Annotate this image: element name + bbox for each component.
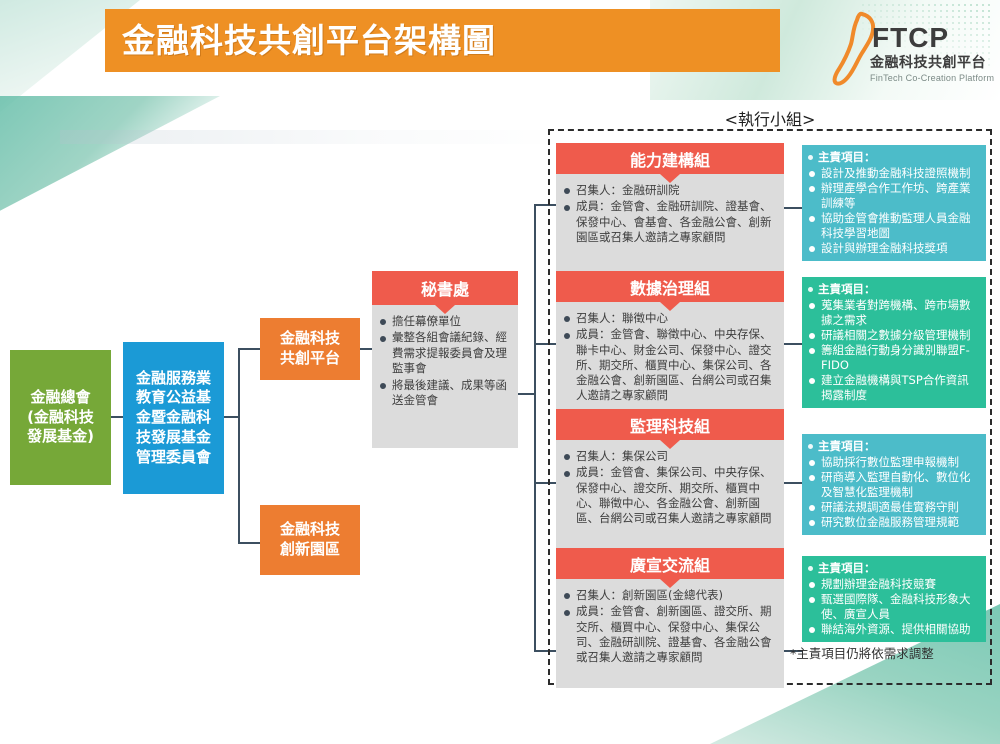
node-root-association: 金融總會 (金融科技 發展基金) [10, 350, 111, 485]
list-item: 將最後建議、成果等函送金管會 [379, 378, 511, 409]
logo-abbr: FTCP [872, 24, 949, 52]
group-1-member-list: 召集人：聯徵中心 成員：金管會、聯徵中心、中央存保、聯卡中心、財金公司、保發中心… [563, 311, 777, 404]
duty-2-title: 主責項目： [807, 439, 980, 454]
list-item: 設計與辦理金融科技獎項 [807, 241, 980, 256]
duty-1-title: 主責項目： [807, 282, 980, 297]
group-2-header: 監理科技組 [556, 409, 784, 440]
node-root-line-0: 金融總會 [27, 388, 94, 408]
list-item: 建立金融機構與TSP合作資訊揭露制度 [807, 373, 980, 403]
list-item: 辦理產學合作工作坊、跨產業訓練等 [807, 181, 980, 211]
duty-1-list: 蒐集業者對跨機構、跨市場數據之需求 研議相關之數據分級管理機制 籌組金融行動身分… [807, 298, 980, 403]
list-item: 召集人：金融研訓院 [563, 183, 777, 198]
connector-committee-vertical [238, 348, 240, 544]
card-group-0: 能力建構組 召集人：金融研訓院 成員：金管會、金融研訓院、證基會、保發中心、會基… [556, 143, 784, 283]
list-item: 研議相關之數據分級管理機制 [807, 328, 980, 343]
node-committee-line-2: 金暨金融科 [136, 408, 211, 428]
node-park-line-0: 金融科技 [280, 520, 340, 540]
connector-committee-stub [224, 416, 238, 418]
secretariat-item-list: 擔任幕僚單位 彙整各組會議紀錄、經費需求提報委員會及理監事會 將最後建議、成果等… [379, 314, 511, 408]
node-committee-line-0: 金融服務業 [136, 369, 211, 389]
list-item: 研商導入監理自動化、數位化及智慧化監理機制 [807, 470, 980, 500]
list-item: 成員：金管會、集保公司、中央存保、保發中心、證交所、期交所、櫃買中心、聯徵中心、… [563, 465, 777, 526]
list-item: 成員：金管會、聯徵中心、中央存保、聯卡中心、財金公司、保發中心、證交所、期交所、… [563, 327, 777, 403]
list-item: 成員：金管會、創新園區、證交所、期交所、櫃買中心、保發中心、集保公司、金融研訓院… [563, 604, 777, 665]
card-group-3: 廣宣交流組 召集人：創新園區(金總代表) 成員：金管會、創新園區、證交所、期交所… [556, 548, 784, 688]
duty-panel-3: 主責項目： 規劃辦理金融科技競賽 甄選國際隊、金融科技形象大使、廣宣人員 聯結海… [802, 556, 986, 642]
connector-group-1-to-duty [784, 343, 802, 345]
group-0-body: 召集人：金融研訓院 成員：金管會、金融研訓院、證基會、保發中心、會基會、各金融公… [556, 174, 784, 283]
duty-panel-1: 主責項目： 蒐集業者對跨機構、跨市場數據之需求 研議相關之數據分級管理機制 籌組… [802, 277, 986, 408]
list-item: 設計及推動金融科技證照機制 [807, 166, 980, 181]
list-item: 聯結海外資源、提供相關協助 [807, 622, 980, 637]
connector-group-2-to-duty [784, 482, 802, 484]
logo-name-cn: 金融科技共創平台 [870, 56, 986, 70]
group-2-body: 召集人：集保公司 成員：金管會、集保公司、中央存保、保發中心、證交所、期交所、櫃… [556, 440, 784, 559]
node-root-line-1: (金融科技 [27, 408, 94, 428]
node-fintech-platform: 金融科技 共創平台 [260, 318, 360, 380]
duty-2-list: 協助採行數位監理申報機制 研商導入監理自動化、數位化及智慧化監理機制 研議法規調… [807, 455, 980, 530]
duty-3-title: 主責項目： [807, 561, 980, 576]
group-1-title: 數據治理組 [630, 275, 710, 299]
connector-root-to-committee [111, 416, 123, 418]
list-item: 召集人：集保公司 [563, 449, 777, 464]
list-item: 規劃辦理金融科技競賽 [807, 577, 980, 592]
list-item: 蒐集業者對跨機構、跨市場數據之需求 [807, 298, 980, 328]
node-management-committee: 金融服務業 教育公益基 金暨金融科 技發展基金 管理委員會 [123, 342, 224, 494]
card-group-1: 數據治理組 召集人：聯徵中心 成員：金管會、聯徵中心、中央存保、聯卡中心、財金公… [556, 271, 784, 421]
ftcp-logo: FTCP 金融科技共創平台 FinTech Co-Creation Platfo… [826, 6, 998, 92]
exec-group-footnote: *主責項目仍將依需求調整 [790, 648, 990, 661]
connector-to-park [238, 542, 260, 544]
secretariat-header: 秘書處 [372, 271, 518, 305]
card-group-2: 監理科技組 召集人：集保公司 成員：金管會、集保公司、中央存保、保發中心、證交所… [556, 409, 784, 559]
connector-platform-to-secretariat [360, 348, 372, 350]
group-2-title: 監理科技組 [630, 413, 710, 437]
node-committee-line-4: 管理委員會 [136, 448, 211, 468]
group-0-header: 能力建構組 [556, 143, 784, 174]
list-item: 擔任幕僚單位 [379, 314, 511, 329]
node-park-line-1: 創新園區 [280, 540, 340, 560]
slide-canvas: 金融科技共創平台架構圖 FTCP 金融科技共創平台 FinTech Co-Cre… [0, 0, 1000, 744]
secretariat-body: 擔任幕僚單位 彙整各組會議紀錄、經費需求提報委員會及理監事會 將最後建議、成果等… [372, 305, 518, 448]
duty-0-list: 設計及推動金融科技證照機制 辦理產學合作工作坊、跨產業訓練等 協助金管會推動監理… [807, 166, 980, 256]
group-1-header: 數據治理組 [556, 271, 784, 302]
list-item: 研議法規調適最佳實務守則 [807, 500, 980, 515]
node-platform-line-0: 金融科技 [280, 329, 340, 349]
duty-panel-2: 主責項目： 協助採行數位監理申報機制 研商導入監理自動化、數位化及智慧化監理機制… [802, 434, 986, 535]
group-3-header: 廣宣交流組 [556, 548, 784, 579]
list-item: 召集人：創新園區(金總代表) [563, 588, 777, 603]
decor-top-left-triangle [0, 96, 220, 216]
node-root-line-2: 發展基金) [27, 427, 94, 447]
list-item: 協助金管會推動監理人員金融科技學習地圖 [807, 211, 980, 241]
group-1-body: 召集人：聯徵中心 成員：金管會、聯徵中心、中央存保、聯卡中心、財金公司、保發中心… [556, 302, 784, 421]
list-item: 甄選國際隊、金融科技形象大使、廣宣人員 [807, 592, 980, 622]
connector-exec-bus [534, 204, 536, 650]
node-committee-line-3: 技發展基金 [136, 428, 211, 448]
decor-faint-band [60, 130, 580, 144]
duty-0-title: 主責項目： [807, 150, 980, 165]
group-2-member-list: 召集人：集保公司 成員：金管會、集保公司、中央存保、保發中心、證交所、期交所、櫃… [563, 449, 777, 526]
connector-group-0-to-duty [784, 207, 802, 209]
group-0-member-list: 召集人：金融研訓院 成員：金管會、金融研訓院、證基會、保發中心、會基會、各金融公… [563, 183, 777, 245]
group-3-body: 召集人：創新園區(金總代表) 成員：金管會、創新園區、證交所、期交所、櫃買中心、… [556, 579, 784, 688]
duty-panel-0: 主責項目： 設計及推動金融科技證照機制 辦理產學合作工作坊、跨產業訓練等 協助金… [802, 145, 986, 261]
connector-secretariat-stub [518, 393, 534, 395]
group-3-title: 廣宣交流組 [630, 552, 710, 576]
group-0-title: 能力建構組 [630, 147, 710, 171]
duty-3-list: 規劃辦理金融科技競賽 甄選國際隊、金融科技形象大使、廣宣人員 聯結海外資源、提供… [807, 577, 980, 637]
group-3-member-list: 召集人：創新園區(金總代表) 成員：金管會、創新園區、證交所、期交所、櫃買中心、… [563, 588, 777, 665]
logo-name-en: FinTech Co-Creation Platform [870, 74, 994, 83]
list-item: 研究數位金融服務管理規範 [807, 515, 980, 530]
page-title-bar: 金融科技共創平台架構圖 [105, 9, 780, 72]
list-item: 召集人：聯徵中心 [563, 311, 777, 326]
secretariat-title: 秘書處 [421, 276, 469, 300]
list-item: 成員：金管會、金融研訓院、證基會、保發中心、會基會、各金融公會、創新園區或召集人… [563, 199, 777, 245]
list-item: 彙整各組會議紀錄、經費需求提報委員會及理監事會 [379, 330, 511, 376]
node-platform-line-1: 共創平台 [280, 349, 340, 369]
connector-to-platform [238, 348, 260, 350]
card-secretariat: 秘書處 擔任幕僚單位 彙整各組會議紀錄、經費需求提報委員會及理監事會 將最後建議… [372, 271, 518, 448]
page-title: 金融科技共創平台架構圖 [105, 24, 496, 57]
list-item: 籌組金融行動身分識別聯盟F-FIDO [807, 343, 980, 373]
node-committee-line-1: 教育公益基 [136, 388, 211, 408]
node-fintech-park: 金融科技 創新園區 [260, 505, 360, 575]
exec-group-label: <執行小組> [548, 112, 992, 128]
list-item: 協助採行數位監理申報機制 [807, 455, 980, 470]
